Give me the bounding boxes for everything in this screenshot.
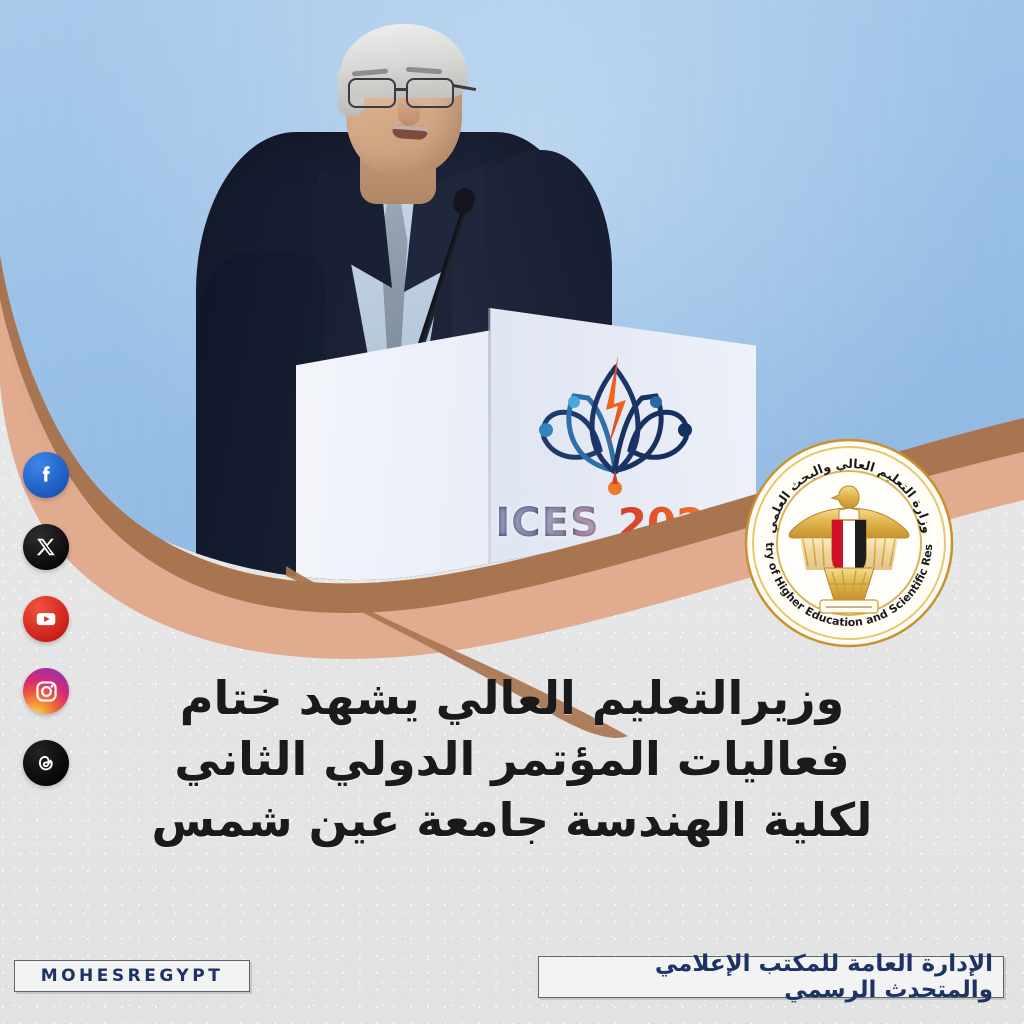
lens-right [406,78,454,108]
footer: MOHESREGYPT الإدارة العامة للمكتب الإعلا… [0,952,1024,1024]
ministry-of-higher-education-seal: وزارة التعليم العالي والبحث العلمي Minis… [744,438,954,648]
ices-year: 2025 [618,499,735,548]
news-card: ICES 2025 وزارة التعليم العالي والبحث ال… [0,0,1024,1024]
podium-edge [488,308,491,672]
youtube-glyph [33,606,59,632]
x-glyph [35,536,57,558]
podium-face-left [296,330,492,672]
ices-word: ICES [495,500,599,546]
x-twitter-icon[interactable] [23,524,69,570]
glasses-temple [452,84,476,91]
headline-line-1: وزيرالتعليم العالي يشهد ختام [52,668,972,729]
youtube-icon[interactable] [23,596,69,642]
headline-line-3: لكلية الهندسة جامعة عين شمس [52,790,972,851]
facebook-glyph [33,462,59,488]
headline: وزيرالتعليم العالي يشهد ختام فعاليات الم… [0,668,1024,852]
ices-wordmark: ICES 2025 [500,496,730,550]
handle-badge: MOHESREGYPT [14,960,250,992]
facebook-icon[interactable] [23,452,69,498]
eyeglasses [340,78,470,112]
lens-left [348,78,396,108]
glasses-bridge [396,88,408,91]
ices-lotus-flame-logo [530,352,700,497]
headline-line-2: فعاليات المؤتمر الدولي الثاني [52,729,972,790]
media-office-badge: الإدارة العامة للمكتب الإعلامي والمتحدث … [538,956,1004,998]
